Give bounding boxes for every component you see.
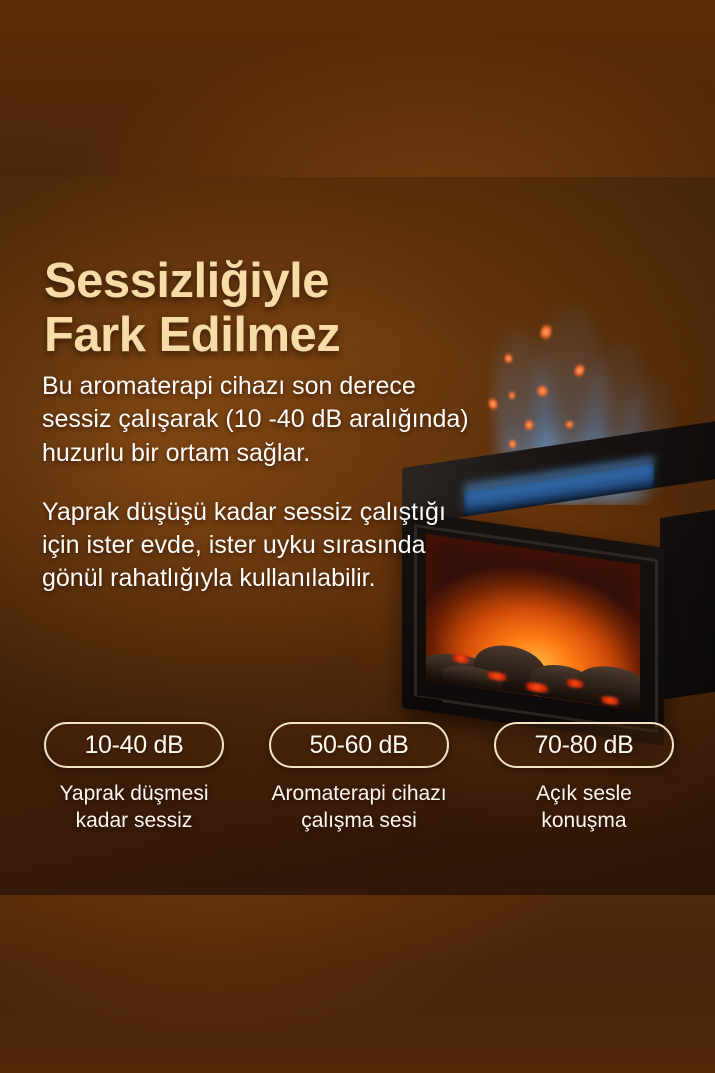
background-band-bottom [0,895,715,1073]
decibel-badge-row: 10-40 dB Yaprak düşmesi kadar sessiz 50-… [34,722,684,835]
page-title: Sessizliğiyle Fark Edilmez [44,255,474,363]
badge-caption: Aromaterapi cihazı çalışma sesi [271,781,446,835]
body-copy: Bu aromaterapi cihazı son derece sessiz … [42,370,482,596]
paragraph-1: Bu aromaterapi cihazı son derece sessiz … [42,370,482,470]
fireplace-side-panel [660,508,715,700]
background-band-top [0,0,715,177]
promo-card: Sessizliğiyle Fark Edilmez Bu aromaterap… [0,0,715,1073]
paragraph-2: Yaprak düşüşü kadar sessiz çalıştığı içi… [42,496,482,596]
badge-item: 50-60 dB Aromaterapi cihazı çalışma sesi [259,722,459,835]
badge-item: 10-40 dB Yaprak düşmesi kadar sessiz [34,722,234,835]
badge-caption: Yaprak düşmesi kadar sessiz [59,781,208,835]
badge-value-pill: 50-60 dB [269,722,449,768]
badge-value-pill: 10-40 dB [44,722,224,768]
badge-item: 70-80 dB Açık sesle konuşma [484,722,684,835]
badge-caption: Açık sesle konuşma [536,781,632,835]
badge-value-pill: 70-80 dB [494,722,674,768]
